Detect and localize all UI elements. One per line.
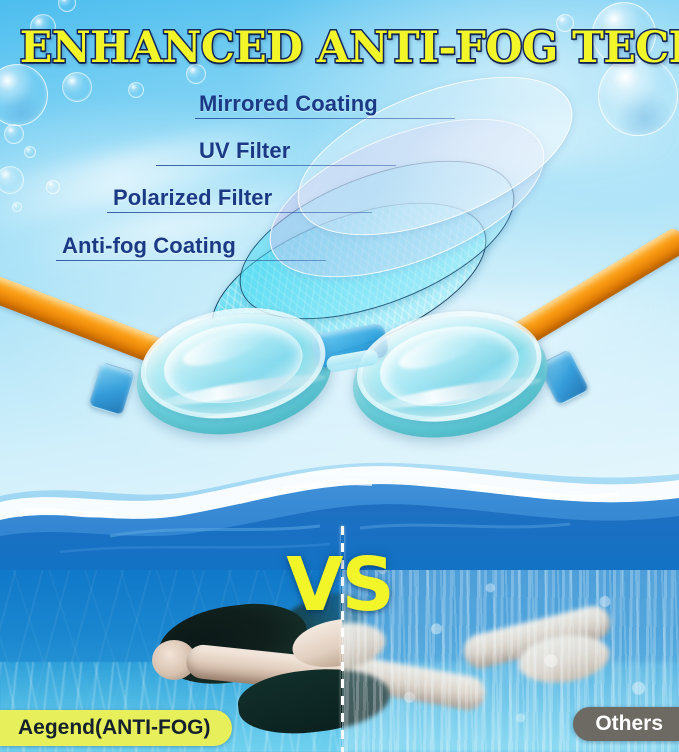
- badge-label: Aegend(ANTI-FOG): [18, 716, 210, 740]
- callout-label: Polarized Filter: [113, 186, 372, 209]
- infographic-canvas: ENHANCED ANTI-FOG TECHNOLOGY Mirrored Co…: [0, 0, 679, 752]
- callout-uv-filter: UV Filter: [199, 139, 396, 166]
- badge-label: Others: [595, 712, 663, 736]
- callout-label: UV Filter: [199, 139, 396, 162]
- leader-line: [156, 165, 396, 166]
- wave-svg: [0, 440, 679, 570]
- wave-divider: [0, 440, 679, 570]
- callout-antifog-coating: Anti-fog Coating: [62, 234, 326, 261]
- callout-polarized-filter: Polarized Filter: [113, 186, 372, 213]
- callout-label: Mirrored Coating: [199, 92, 455, 115]
- callout-label: Anti-fog Coating: [62, 234, 326, 257]
- leader-line: [56, 260, 326, 261]
- callout-mirrored-coating: Mirrored Coating: [199, 92, 455, 119]
- feature-callouts: Mirrored Coating UV Filter Polarized Fil…: [0, 0, 679, 300]
- comparison-divider: [341, 526, 344, 752]
- goggle-clip-left: [88, 362, 136, 417]
- badge-aegend-antifog: Aegend(ANTI-FOG): [0, 710, 232, 746]
- leader-line: [107, 212, 372, 213]
- leader-line: [195, 118, 455, 119]
- badge-others: Others: [573, 707, 679, 741]
